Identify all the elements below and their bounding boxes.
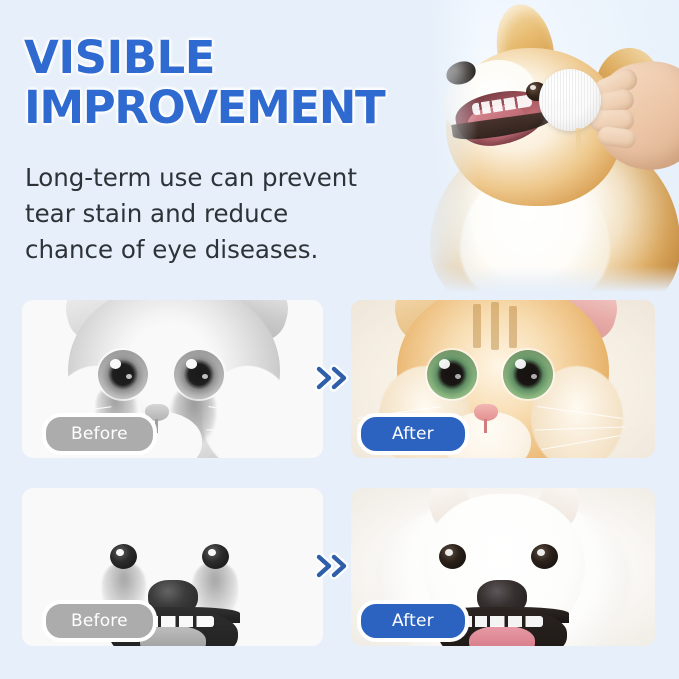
eye-glint bbox=[439, 359, 450, 369]
eye-glint bbox=[515, 359, 526, 369]
cat-nose bbox=[474, 404, 498, 421]
cotton-pad-drip bbox=[576, 128, 581, 166]
eye-glint-secondary bbox=[202, 374, 208, 379]
product-feature-image: VISIBLE IMPROVEMENT Long-term use can pr… bbox=[0, 0, 679, 679]
cat-forehead-stripe bbox=[509, 306, 517, 348]
cat-forehead-stripe bbox=[473, 304, 481, 348]
eye-glint bbox=[110, 359, 121, 369]
cat-forehead-stripe bbox=[491, 302, 499, 350]
cat-eye-left bbox=[427, 350, 477, 399]
dog-eye-left bbox=[110, 544, 137, 569]
dog-eye-right bbox=[202, 544, 229, 569]
eye-glint bbox=[445, 549, 453, 556]
cat-eye-right bbox=[503, 350, 553, 399]
badge-before-dog: Before bbox=[42, 600, 157, 642]
subtext-line-3: chance of eye diseases. bbox=[25, 232, 425, 268]
double-chevron-right-icon bbox=[312, 548, 352, 584]
double-chevron-right-icon bbox=[312, 360, 352, 396]
subtext-line-1: Long-term use can prevent bbox=[25, 160, 425, 196]
dog-tongue bbox=[469, 626, 535, 646]
cat-eye-right bbox=[174, 350, 224, 399]
headline-line-1: VISIBLE bbox=[24, 33, 444, 83]
eye-glint-secondary bbox=[455, 374, 461, 379]
badge-after-cat: After bbox=[357, 413, 469, 455]
dog-eye-right bbox=[531, 544, 558, 569]
eye-glint bbox=[537, 549, 545, 556]
hero-fade-bottom bbox=[408, 266, 679, 292]
dog-teeth bbox=[463, 616, 543, 627]
headline-block: VISIBLE IMPROVEMENT bbox=[24, 33, 444, 133]
eye-glint bbox=[186, 359, 197, 369]
dog-eye-left bbox=[439, 544, 466, 569]
eye-glint-secondary bbox=[531, 374, 537, 379]
eye-glint bbox=[116, 549, 124, 556]
subtext-block: Long-term use can prevent tear stain and… bbox=[25, 160, 425, 268]
headline-line-2: IMPROVEMENT bbox=[24, 83, 444, 133]
badge-after-dog: After bbox=[357, 600, 469, 642]
eye-glint bbox=[208, 549, 216, 556]
cat-eye-left bbox=[98, 350, 148, 399]
subtext-line-2: tear stain and reduce bbox=[25, 196, 425, 232]
hero-photo-corgi-wipe bbox=[408, 0, 679, 292]
badge-before-cat: Before bbox=[42, 413, 157, 455]
eye-glint-secondary bbox=[126, 374, 132, 379]
cotton-pad bbox=[539, 69, 601, 131]
